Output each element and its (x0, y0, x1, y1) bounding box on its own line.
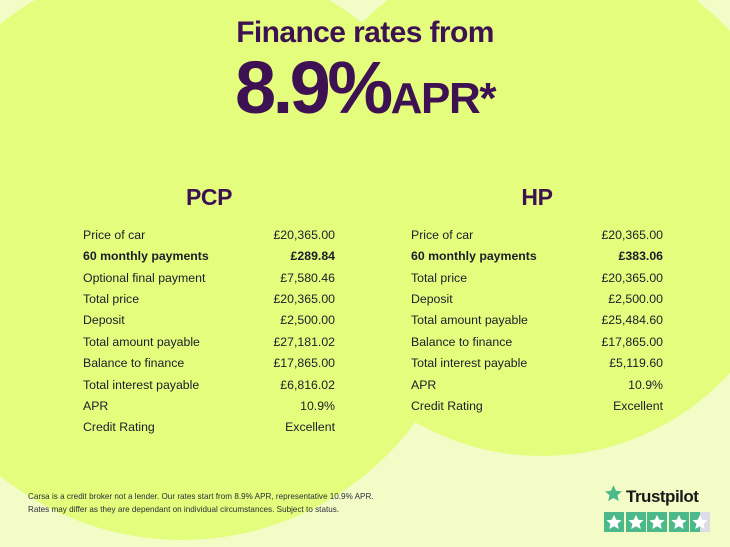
trustpilot-stars (604, 512, 716, 532)
table-row: Credit RatingExcellent (411, 396, 663, 417)
table-row: Price of car£20,365.00 (411, 225, 663, 246)
table-row: Balance to finance£17,865.00 (411, 332, 663, 353)
row-label: Credit Rating (411, 396, 580, 417)
trustpilot-star (626, 512, 646, 532)
table-row: Credit RatingExcellent (83, 417, 335, 438)
table-row: 60 monthly payments£289.84 (83, 246, 335, 267)
row-value: Excellent (252, 417, 335, 438)
star-icon (604, 484, 623, 508)
table-row: APR10.9% (83, 396, 335, 417)
row-label: Price of car (411, 225, 580, 246)
row-value: £27,181.02 (252, 332, 335, 353)
row-label: Total amount payable (411, 310, 580, 331)
row-label: APR (83, 396, 252, 417)
row-label: Total price (83, 289, 252, 310)
row-value: £20,365.00 (252, 289, 335, 310)
row-value: £6,816.02 (252, 375, 335, 396)
table-row: Deposit£2,500.00 (411, 289, 663, 310)
table-row: Total price£20,365.00 (411, 268, 663, 289)
trustpilot-star (604, 512, 624, 532)
table-row: Deposit£2,500.00 (83, 310, 335, 331)
table-row: 60 monthly payments£383.06 (411, 246, 663, 267)
row-value: £289.84 (252, 246, 335, 267)
trustpilot-star (647, 512, 667, 532)
table-row: Total amount payable£25,484.60 (411, 310, 663, 331)
row-value: £7,580.46 (252, 268, 335, 289)
disclaimer: Carsa is a credit broker not a lender. O… (28, 490, 374, 516)
table-row: Optional final payment£7,580.46 (83, 268, 335, 289)
plan-table-pcp: Price of car£20,365.0060 monthly payment… (83, 225, 335, 439)
plan-panel-pcp: PCP Price of car£20,365.0060 monthly pay… (83, 184, 335, 439)
row-label: Balance to finance (83, 353, 252, 374)
disclaimer-line-2: Rates may differ as they are dependant o… (28, 503, 374, 516)
row-label: Total interest payable (411, 353, 580, 374)
table-row: Price of car£20,365.00 (83, 225, 335, 246)
trustpilot-rating[interactable]: Trustpilot (604, 484, 716, 532)
row-label: APR (411, 375, 580, 396)
table-row: Total interest payable£5,119.60 (411, 353, 663, 374)
headline-eyebrow: Finance rates from (0, 16, 730, 49)
trustpilot-star (690, 512, 710, 532)
table-row: Balance to finance£17,865.00 (83, 353, 335, 374)
table-row: Total interest payable£6,816.02 (83, 375, 335, 396)
row-value: £383.06 (580, 246, 663, 267)
table-row: Total price£20,365.00 (83, 289, 335, 310)
row-value: £2,500.00 (580, 289, 663, 310)
row-value: £5,119.60 (580, 353, 663, 374)
row-value: 10.9% (580, 375, 663, 396)
plan-title-pcp: PCP (83, 184, 335, 211)
row-value: £20,365.00 (252, 225, 335, 246)
trustpilot-star (669, 512, 689, 532)
promo-banner: Finance rates from 8.9% APR* PCP Price o… (0, 0, 730, 547)
row-label: Credit Rating (83, 417, 252, 438)
plan-table-hp: Price of car£20,365.0060 monthly payment… (411, 225, 663, 417)
header: Finance rates from 8.9% APR* (0, 16, 730, 125)
row-value: 10.9% (252, 396, 335, 417)
headline-rate: 8.9% (235, 51, 390, 125)
trustpilot-wordmark: Trustpilot (626, 488, 698, 505)
row-label: 60 monthly payments (411, 246, 580, 267)
row-label: Total interest payable (83, 375, 252, 396)
row-value: £25,484.60 (580, 310, 663, 331)
row-value: Excellent (580, 396, 663, 417)
row-label: Deposit (83, 310, 252, 331)
row-value: £20,365.00 (580, 268, 663, 289)
row-label: 60 monthly payments (83, 246, 252, 267)
row-value: £17,865.00 (580, 332, 663, 353)
row-value: £17,865.00 (252, 353, 335, 374)
disclaimer-line-1: Carsa is a credit broker not a lender. O… (28, 490, 374, 503)
row-label: Total price (411, 268, 580, 289)
row-label: Price of car (83, 225, 252, 246)
row-label: Optional final payment (83, 268, 252, 289)
plan-panel-hp: HP Price of car£20,365.0060 monthly paym… (411, 184, 663, 417)
table-row: APR10.9% (411, 375, 663, 396)
plan-title-hp: HP (411, 184, 663, 211)
headline-rate-group: 8.9% APR* (0, 51, 730, 125)
row-value: £2,500.00 (252, 310, 335, 331)
table-row: Total amount payable£27,181.02 (83, 332, 335, 353)
row-label: Balance to finance (411, 332, 580, 353)
row-label: Total amount payable (83, 332, 252, 353)
headline-apr-suffix: APR* (391, 77, 495, 121)
trustpilot-brand: Trustpilot (604, 484, 716, 508)
row-value: £20,365.00 (580, 225, 663, 246)
row-label: Deposit (411, 289, 580, 310)
